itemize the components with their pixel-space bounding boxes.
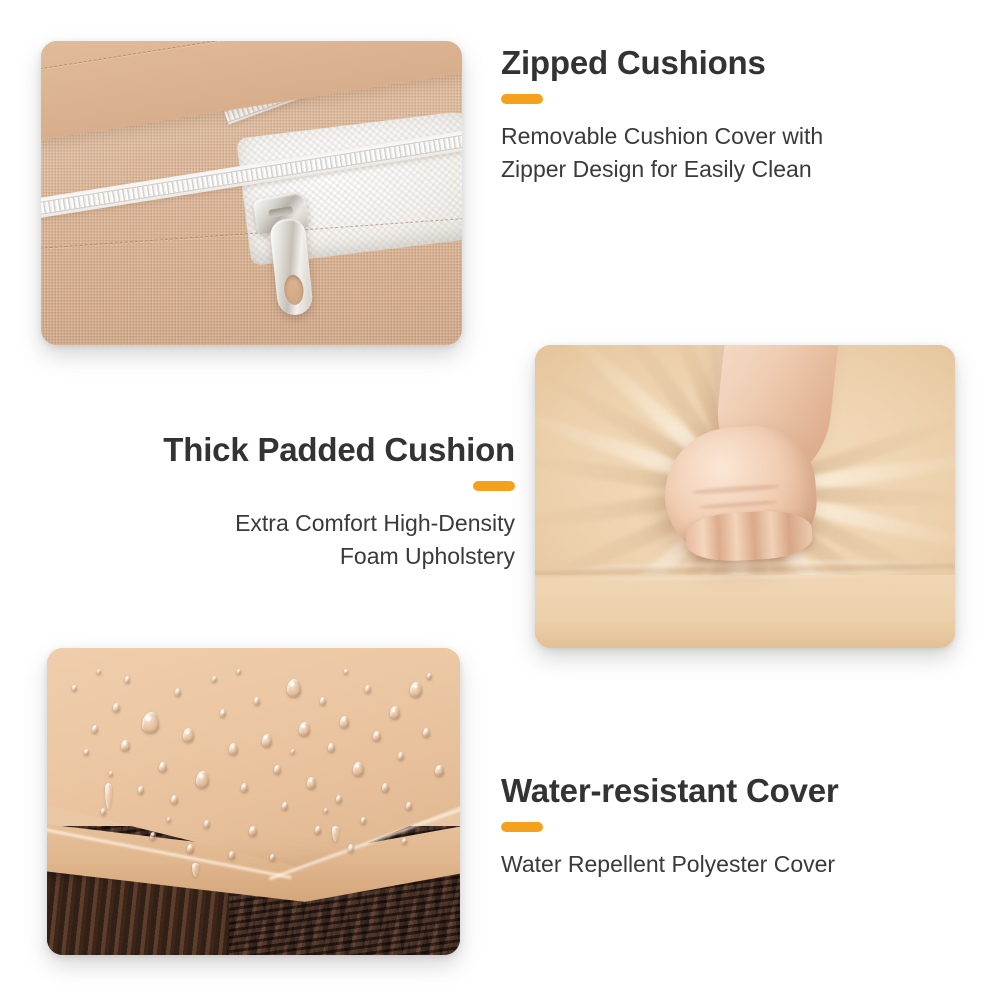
feature-heading-thick-padded-cushion: Thick Padded Cushion — [90, 432, 515, 469]
infographic-canvas: Zipped Cushions Removable Cushion Cover … — [0, 0, 1000, 1000]
feature-image-thick-padded-cushion — [535, 345, 955, 648]
accent-bar-zipped-cushions — [501, 94, 543, 104]
accent-bar-water-resistant-cover — [501, 822, 543, 832]
feature-body-zipped-cushions: Removable Cushion Cover with Zipper Desi… — [501, 120, 931, 185]
water-droplets-group — [47, 648, 460, 955]
feature-text-zipped-cushions: Zipped Cushions Removable Cushion Cover … — [501, 45, 931, 185]
feature-body-line-1: Removable Cushion Cover with — [501, 123, 823, 149]
stitching-seam-top — [41, 41, 462, 75]
water-streak-center — [192, 863, 199, 877]
cushion-lower-section — [535, 575, 955, 648]
water-streak-left — [105, 783, 112, 809]
feature-text-thick-padded-cushion: Thick Padded Cushion Extra Comfort High-… — [90, 432, 515, 572]
feature-body-thick-padded-cushion: Extra Comfort High-Density Foam Upholste… — [90, 507, 515, 572]
feature-image-water-resistant-cover — [47, 648, 460, 955]
feature-image-zipped-cushions — [41, 41, 462, 345]
feature-body-line-2: Zipper Design for Easily Clean — [501, 156, 812, 182]
water-streak-right — [332, 826, 339, 842]
feature-text-water-resistant-cover: Water-resistant Cover Water Repellent Po… — [501, 773, 941, 881]
accent-bar-thick-padded-cushion — [473, 481, 515, 491]
feature-heading-zipped-cushions: Zipped Cushions — [501, 45, 931, 82]
feature-heading-water-resistant-cover: Water-resistant Cover — [501, 773, 941, 810]
feature-body-water-resistant-cover: Water Repellent Polyester Cover — [501, 848, 941, 881]
feature-body-line-2: Foam Upholstery — [340, 543, 515, 569]
feature-body-line-1: Extra Comfort High-Density — [235, 510, 515, 536]
